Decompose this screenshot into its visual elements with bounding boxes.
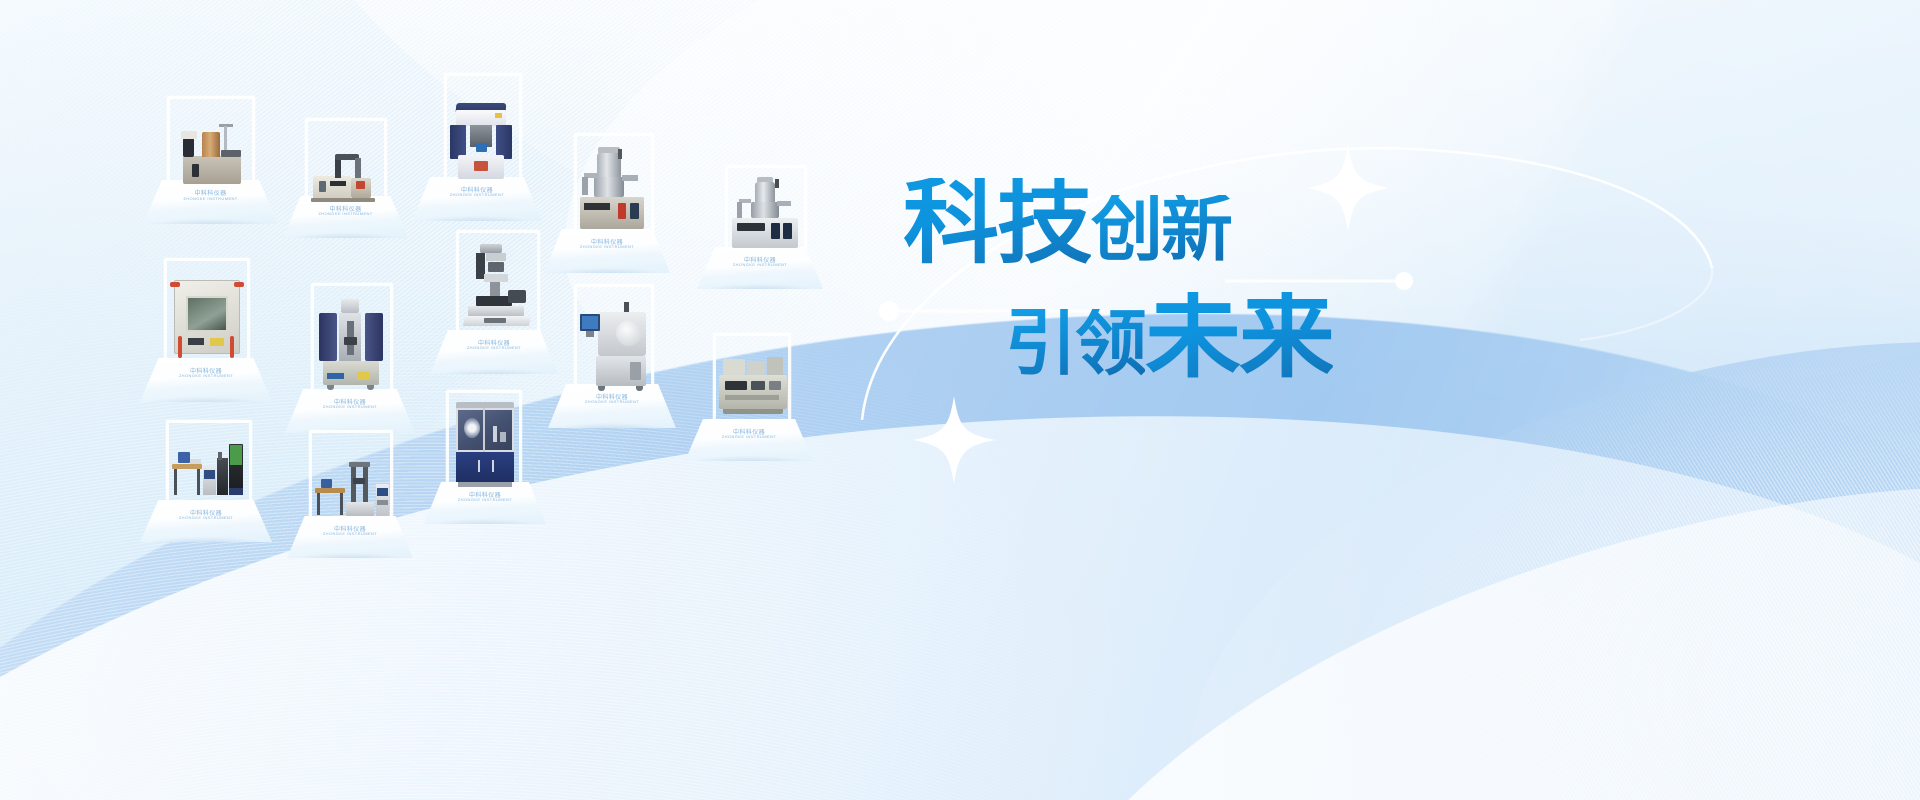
- product-watermark-sub: ZHONGKE INSTRUMENT: [183, 196, 237, 201]
- orbit-node-dot-left: [879, 301, 899, 321]
- product-image: [311, 150, 381, 206]
- product-pedestal: [285, 389, 415, 433]
- product-image: [448, 99, 520, 183]
- sparkle-star-icon: [913, 396, 995, 484]
- product-pedestal: [140, 358, 272, 402]
- headline-block: 科技 创新 引领 未来: [905, 178, 1465, 382]
- product-card[interactable]: 中科科仪器 ZHONGKE INSTRUMENT: [544, 133, 670, 281]
- headline-line-2: 引领 未来: [1005, 292, 1465, 382]
- hero-banner: 科技 创新 引领 未来 中科科仪器 ZHONGKE INSTRUMENT: [0, 0, 1920, 800]
- product-pedestal: [424, 482, 546, 524]
- product-image: [578, 147, 650, 233]
- product-pedestal: [287, 516, 413, 558]
- product-watermark-sub: ZHONGKE INSTRUMENT: [318, 211, 372, 216]
- product-card[interactable]: 中科科仪器 ZHONGKE INSTRUMENT: [143, 96, 278, 246]
- product-image: [170, 436, 246, 506]
- product-image: [462, 244, 534, 336]
- product-watermark-sub: ZHONGKE INSTRUMENT: [585, 399, 639, 404]
- headline-line1-strong: 科技: [903, 178, 1091, 268]
- product-image: [170, 274, 244, 362]
- product-watermark-sub: ZHONGKE INSTRUMENT: [580, 244, 634, 249]
- product-pedestal: [412, 177, 542, 221]
- product-watermark-sub: ZHONGKE INSTRUMENT: [458, 497, 512, 502]
- headline-line2-soft: 引领: [1005, 309, 1145, 382]
- product-watermark-sub: ZHONGKE INSTRUMENT: [179, 373, 233, 378]
- product-card[interactable]: 中科科仪器 ZHONGKE INSTRUMENT: [548, 284, 676, 432]
- product-card[interactable]: 中科科仪器 ZHONGKE INSTRUMENT: [424, 390, 546, 526]
- product-pedestal: [430, 330, 558, 374]
- product-image: [315, 299, 389, 393]
- product-card[interactable]: 中科科仪器 ZHONGKE INSTRUMENT: [685, 333, 813, 467]
- product-pedestal: [143, 180, 278, 224]
- product-card[interactable]: 中科科仪器 ZHONGKE INSTRUMENT: [140, 258, 272, 406]
- product-pedestal: [544, 229, 670, 273]
- product-card[interactable]: 中科科仪器 ZHONGKE INSTRUMENT: [285, 283, 415, 435]
- product-watermark-sub: ZHONGKE INSTRUMENT: [722, 434, 776, 439]
- product-card[interactable]: 中科科仪器 ZHONGKE INSTRUMENT: [430, 230, 558, 376]
- orbit-ellipse-arc-tail: [1580, 268, 1712, 340]
- product-watermark-sub: ZHONGKE INSTRUMENT: [323, 531, 377, 536]
- product-card[interactable]: 中科科仪器 ZHONGKE INSTRUMENT: [697, 165, 823, 293]
- product-image: [175, 122, 247, 186]
- product-watermark-sub: ZHONGKE INSTRUMENT: [467, 345, 521, 350]
- product-watermark-sub: ZHONGKE INSTRUMENT: [450, 192, 504, 197]
- product-watermark-sub: ZHONGKE INSTRUMENT: [733, 262, 787, 267]
- product-card[interactable]: 中科科仪器 ZHONGKE INSTRUMENT: [140, 420, 272, 546]
- headline-line2-strong: 未来: [1145, 292, 1333, 382]
- product-pedestal: [697, 247, 823, 289]
- product-image: [454, 402, 516, 488]
- product-watermark-sub: ZHONGKE INSTRUMENT: [323, 404, 377, 409]
- product-card[interactable]: 中科科仪器 ZHONGKE INSTRUMENT: [287, 430, 413, 566]
- product-pedestal: [140, 500, 272, 542]
- headline-line1-soft: 创新: [1091, 195, 1231, 268]
- product-card[interactable]: 中科科仪器 ZHONGKE INSTRUMENT: [412, 73, 542, 221]
- product-image: [717, 355, 789, 427]
- product-image: [729, 177, 803, 253]
- product-watermark-sub: ZHONGKE INSTRUMENT: [179, 515, 233, 520]
- product-image: [580, 302, 650, 392]
- product-image: [313, 460, 389, 522]
- headline-line-1: 科技 创新: [905, 178, 1465, 268]
- product-card[interactable]: 中科科仪器 ZHONGKE INSTRUMENT: [283, 118, 408, 258]
